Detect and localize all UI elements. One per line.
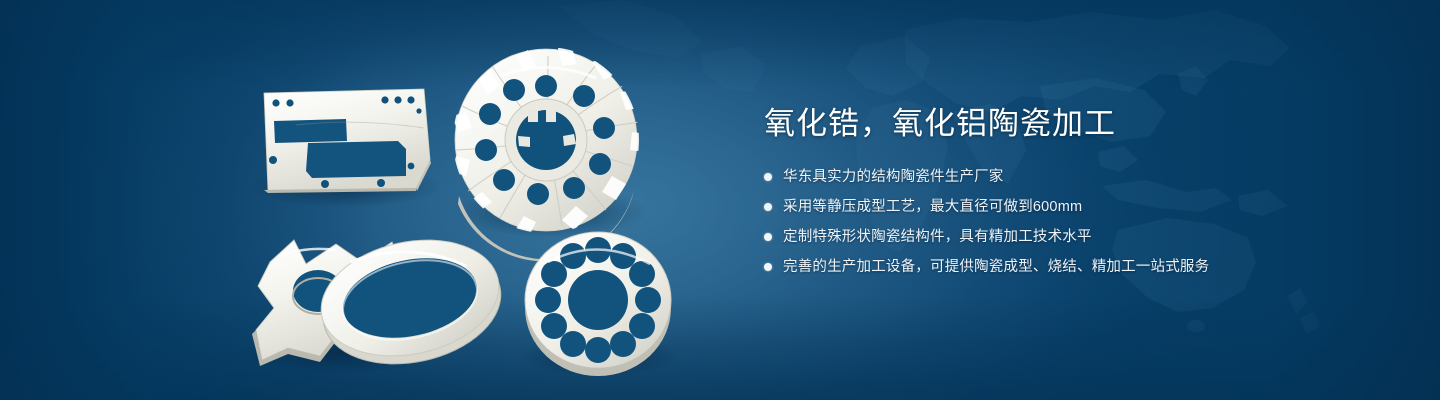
product-photo-group	[0, 0, 720, 400]
plate-hole	[269, 156, 277, 164]
banner-copy: 氧化锆，氧化铝陶瓷加工 华东具实力的结构陶瓷件生产厂家 采用等静压成型工艺，最大…	[764, 104, 1384, 278]
disc-center-bore	[568, 270, 628, 330]
hero-banner: 氧化锆，氧化铝陶瓷加工 华东具实力的结构陶瓷件生产厂家 采用等静压成型工艺，最大…	[0, 0, 1440, 400]
list-item: 完善的生产加工设备，可提供陶瓷成型、烧结、精加工一站式服务	[764, 256, 1384, 278]
list-item: 华东具实力的结构陶瓷件生产厂家	[764, 166, 1384, 188]
bullet-text: 定制特殊形状陶瓷结构件，具有精加工技术水平	[783, 226, 1092, 248]
plate-hole	[377, 179, 385, 187]
plate-hole	[272, 99, 279, 106]
plate-hole	[381, 96, 388, 103]
banner-headline: 氧化锆，氧化铝陶瓷加工	[764, 104, 1384, 144]
plate-hole	[286, 99, 293, 106]
plate-hole	[321, 180, 329, 188]
product-ceramic-plate	[264, 89, 431, 193]
bullet-dot-icon	[764, 203, 772, 211]
banner-bullet-list: 华东具实力的结构陶瓷件生产厂家 采用等静压成型工艺，最大直径可做到600mm 定…	[764, 166, 1384, 278]
plate-hole	[394, 96, 401, 103]
bullet-text: 采用等静压成型工艺，最大直径可做到600mm	[783, 196, 1082, 218]
product-perforated-disc	[525, 232, 671, 376]
bullet-text: 完善的生产加工设备，可提供陶瓷成型、烧结、精加工一站式服务	[783, 256, 1209, 278]
bullet-dot-icon	[764, 233, 772, 241]
plate-hole	[408, 163, 415, 170]
plate-hole	[407, 96, 414, 103]
bullet-text: 华东具实力的结构陶瓷件生产厂家	[783, 166, 1004, 188]
plate-cutout-main	[306, 141, 406, 178]
list-item: 定制特殊形状陶瓷结构件，具有精加工技术水平	[764, 226, 1384, 248]
bullet-dot-icon	[764, 263, 772, 271]
bullet-dot-icon	[764, 173, 772, 181]
list-item: 采用等静压成型工艺，最大直径可做到600mm	[764, 196, 1384, 218]
plate-hole	[416, 108, 421, 113]
